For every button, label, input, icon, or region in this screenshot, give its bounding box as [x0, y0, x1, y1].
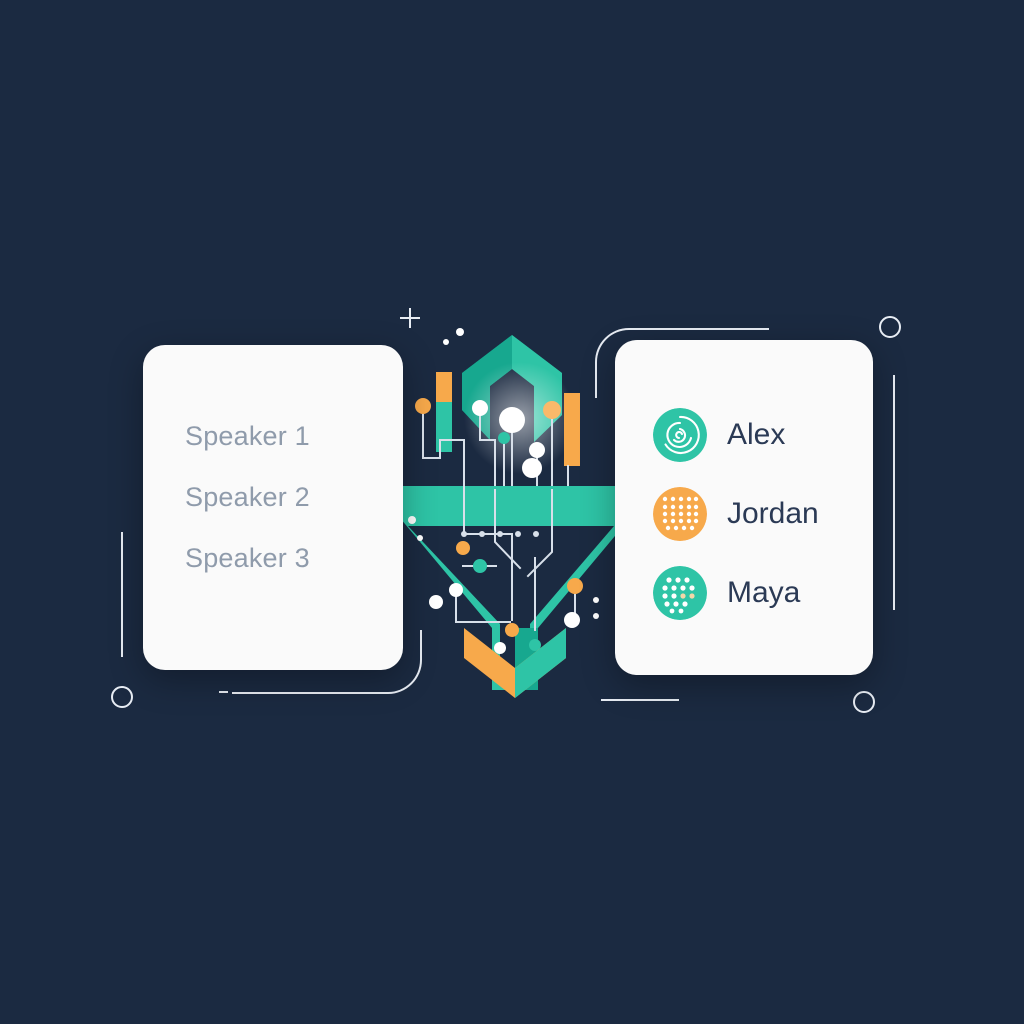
vertical-line-right: [893, 375, 895, 610]
speaker-diarization-funnel-graphic: [400, 290, 630, 710]
identity-label: Alex: [727, 420, 785, 450]
right-indicator-bar: [564, 393, 580, 466]
diagram-canvas: Speaker 1 Speaker 2 Speaker 3: [0, 0, 1024, 1024]
list-item[interactable]: Alex: [653, 408, 819, 462]
identity-list: Alex Jordan: [653, 408, 819, 620]
circle-top-right-icon: [879, 316, 901, 338]
list-item[interactable]: Speaker 1: [185, 423, 310, 450]
speakers-card[interactable]: Speaker 1 Speaker 2 Speaker 3: [143, 345, 403, 670]
avatar: [653, 408, 707, 462]
list-item[interactable]: Speaker 3: [185, 545, 310, 572]
vertical-line-left: [121, 532, 123, 657]
identities-card[interactable]: Alex Jordan: [615, 340, 873, 675]
dash-under-left-card: [219, 691, 228, 693]
avatar: [653, 487, 707, 541]
list-item[interactable]: Speaker 2: [185, 484, 310, 511]
spiral-fingerprint-icon: [653, 408, 707, 462]
avatar: [653, 566, 707, 620]
speaker-list: Speaker 1 Speaker 2 Speaker 3: [185, 423, 310, 572]
identity-label: Jordan: [727, 499, 819, 529]
dot-grid-icon: [653, 487, 707, 541]
circle-bottom-left-icon: [111, 686, 133, 708]
list-item[interactable]: Maya: [653, 566, 819, 620]
list-item[interactable]: Jordan: [653, 487, 819, 541]
identity-label: Maya: [727, 578, 800, 608]
dot-grid-icon: [653, 566, 707, 620]
circle-bottom-right-icon: [853, 691, 875, 713]
